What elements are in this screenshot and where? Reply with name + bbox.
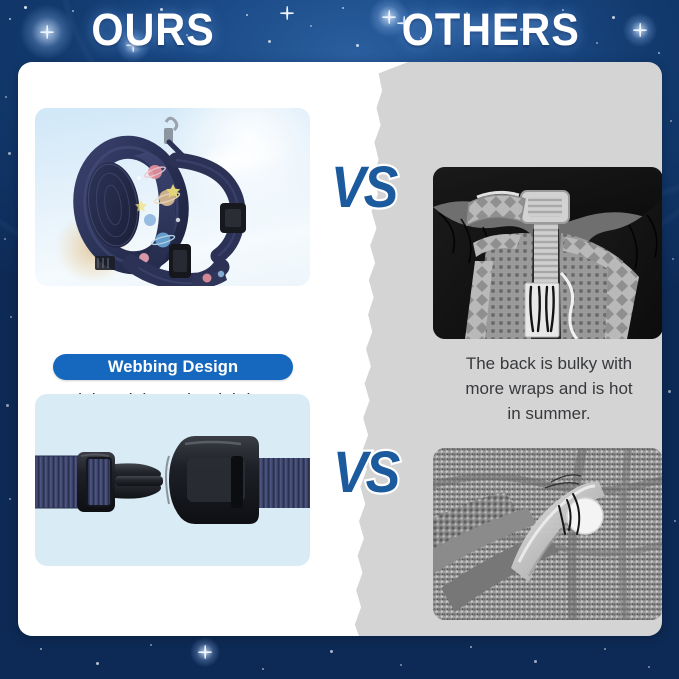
caption-line: Easy to stick to the dog's bbox=[418, 632, 662, 636]
badge-webbing-design: Webbing Design bbox=[53, 354, 293, 380]
others-photo-velcro bbox=[433, 448, 662, 620]
ours-photo-buckle bbox=[35, 394, 310, 566]
comparison-infographic: OURS OTHERS bbox=[0, 0, 679, 679]
header: OURS OTHERS bbox=[0, 0, 679, 62]
comparison-panel: Webbing Design Lightweight and weightles… bbox=[18, 62, 662, 636]
caption-line: The back is bulky with bbox=[418, 351, 662, 376]
vs-badge-row-1: VS bbox=[331, 154, 396, 221]
page-title-others: OTHERS bbox=[402, 4, 580, 56]
vs-badge-row-2: VS bbox=[333, 439, 398, 506]
others-photo-bulky-back bbox=[433, 167, 662, 339]
caption-line: more wraps and is hot bbox=[418, 376, 662, 401]
caption-others-2: Easy to stick to the dog's hair and lose… bbox=[418, 632, 662, 636]
page-title-ours: OURS bbox=[91, 4, 214, 56]
caption-line: in summer. bbox=[418, 401, 662, 426]
caption-others-1: The back is bulky with more wraps and is… bbox=[418, 351, 662, 426]
ours-photo-harness bbox=[35, 108, 310, 286]
